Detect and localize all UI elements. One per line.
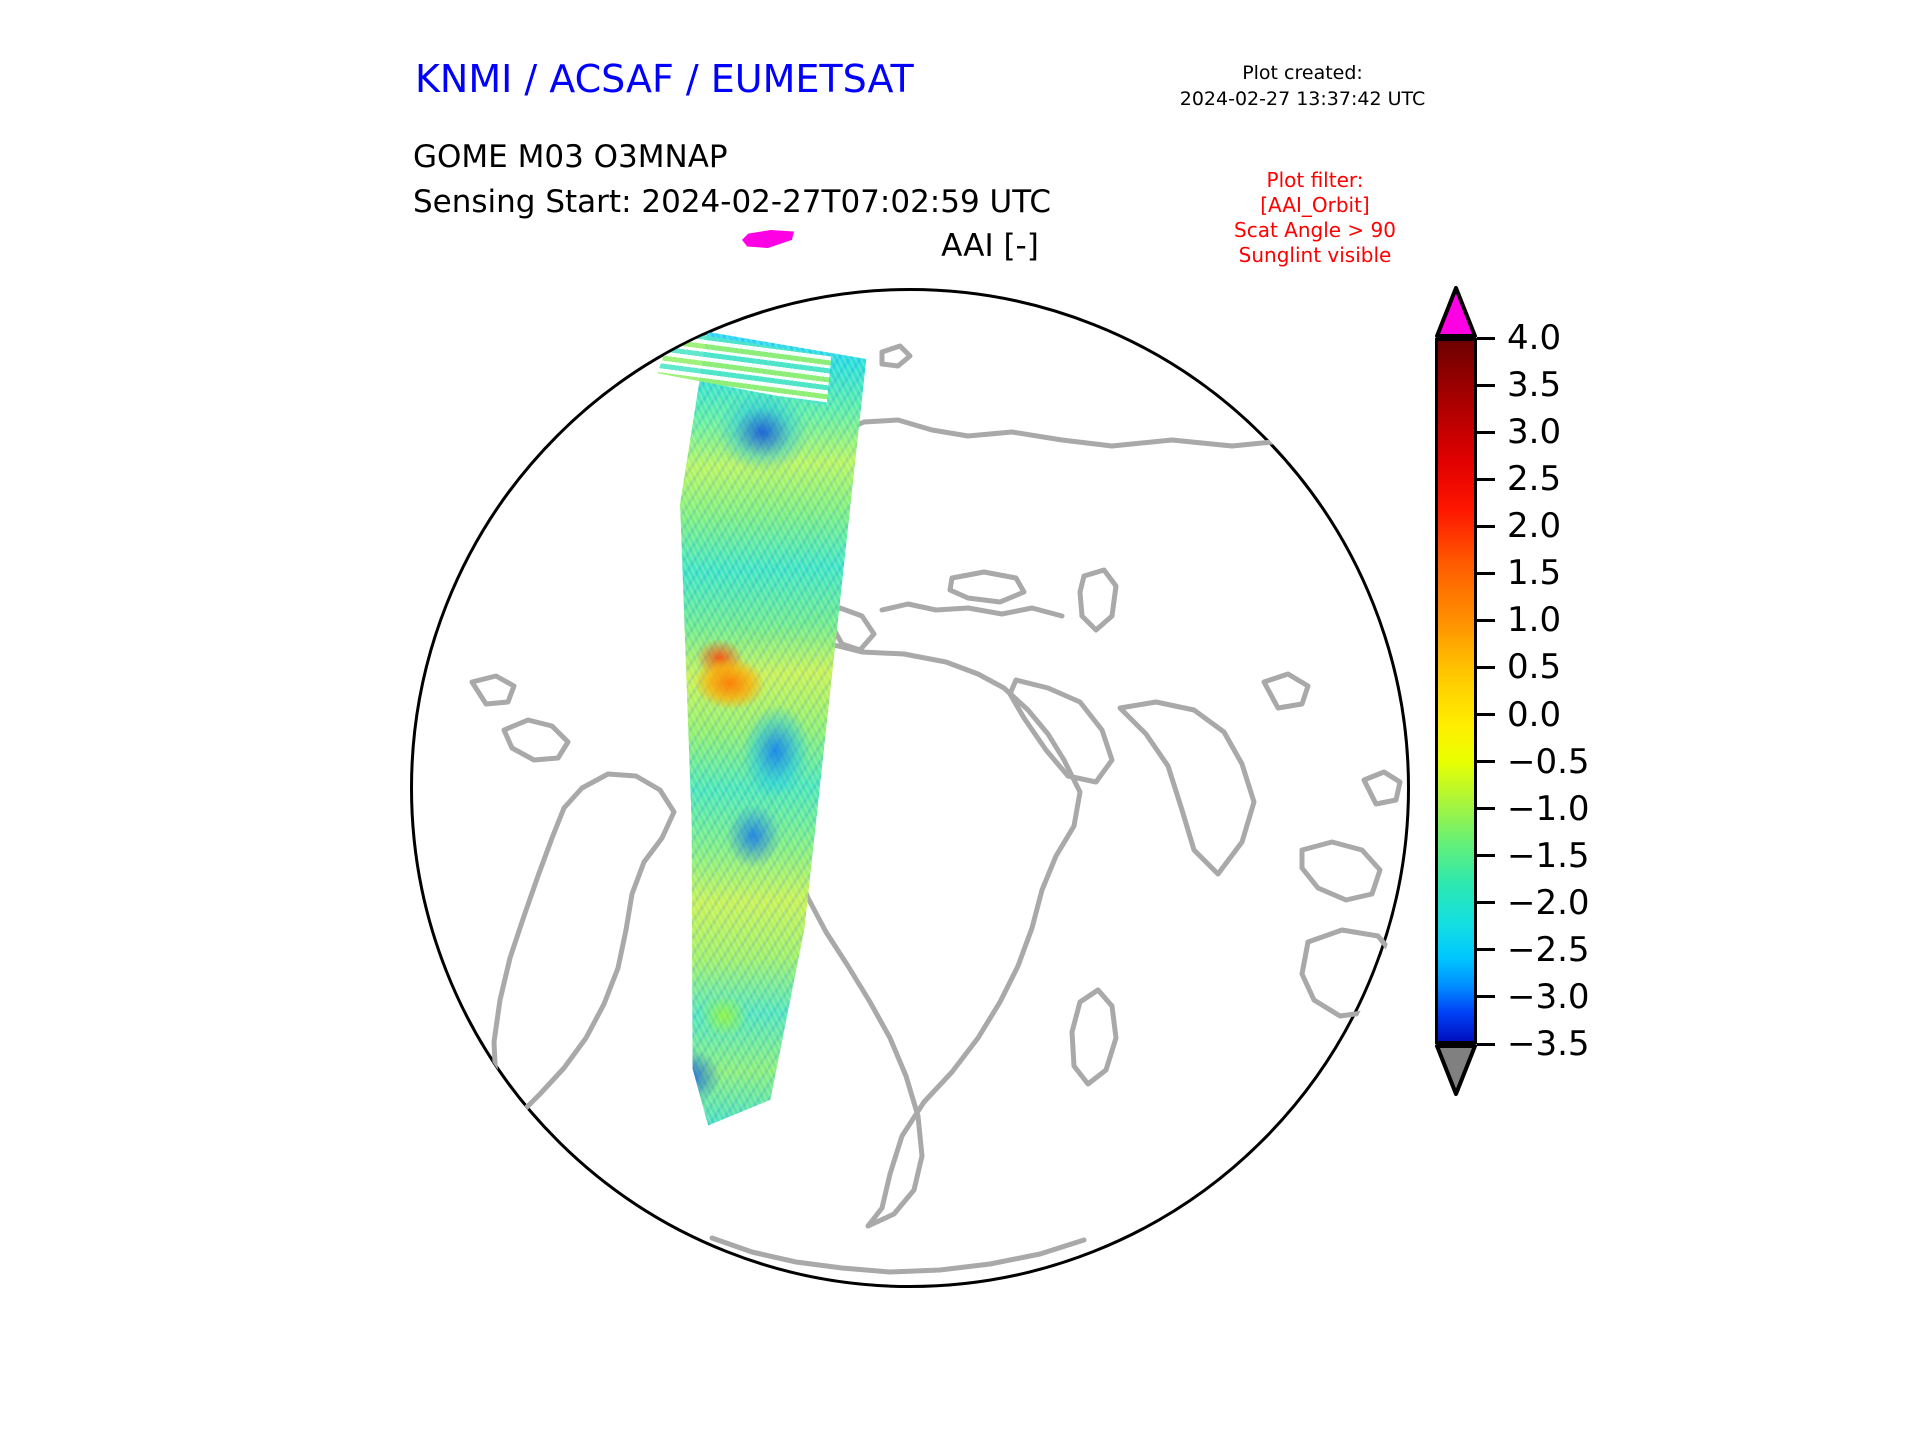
colorbar-tick-label: 0.5 — [1507, 650, 1561, 684]
plot-created-timestamp: 2024-02-27 13:37:42 UTC — [1160, 86, 1445, 112]
colorbar-tick — [1477, 337, 1495, 340]
colorbar-tick — [1477, 619, 1495, 622]
colorbar-tick-label: −3.0 — [1507, 980, 1590, 1014]
colorbar-tick-label: 0.0 — [1507, 698, 1561, 732]
colorbar-tick — [1477, 525, 1495, 528]
colorbar-tick — [1477, 431, 1495, 434]
plot-created-label: Plot created: — [1160, 60, 1445, 86]
colorbar-tick — [1477, 807, 1495, 810]
colorbar-tick-label: −1.0 — [1507, 792, 1590, 826]
colorbar-tick — [1477, 713, 1495, 716]
colorbar-over-arrow — [1435, 286, 1477, 338]
colorbar-tick-label: 3.0 — [1507, 415, 1561, 449]
product-info-block: GOME M03 O3MNAP Sensing Start: 2024-02-2… — [413, 135, 1051, 225]
colorbar-tick-label: 2.5 — [1507, 462, 1561, 496]
colorbar-tick — [1477, 666, 1495, 669]
colorbar-tick-label: −3.5 — [1507, 1027, 1590, 1061]
colorbar-tick-label: 1.5 — [1507, 556, 1561, 590]
colorbar-tick-label: −1.5 — [1507, 839, 1590, 873]
colorbar-tick-label: −0.5 — [1507, 745, 1590, 779]
aai-swath-raster — [618, 330, 868, 1133]
colorbar-tick — [1477, 384, 1495, 387]
plot-filter-title: Plot filter: — [1185, 168, 1445, 193]
satellite-swath-layer — [412, 290, 1412, 1290]
colorbar-tick — [1477, 854, 1495, 857]
plot-filter-line-0: [AAI_Orbit] — [1185, 193, 1445, 218]
plot-filter-block: Plot filter: [AAI_Orbit] Scat Angle > 90… — [1185, 168, 1445, 268]
plot-filter-line-1: Scat Angle > 90 — [1185, 218, 1445, 243]
map-plot-area — [410, 288, 1414, 1292]
organisation-title: KNMI / ACSAF / EUMETSAT — [415, 57, 914, 101]
colorbar-tick-label: 1.0 — [1507, 603, 1561, 637]
colorbar-tick — [1477, 995, 1495, 998]
colorbar-tick-label: 3.5 — [1507, 368, 1561, 402]
product-name: GOME M03 O3MNAP — [413, 135, 1051, 180]
colorbar-tick — [1477, 478, 1495, 481]
plot-created-block: Plot created: 2024-02-27 13:37:42 UTC — [1160, 60, 1445, 112]
colorbar-tick — [1477, 948, 1495, 951]
plot-filter-line-2: Sunglint visible — [1185, 243, 1445, 268]
colorbar-tick-label: −2.5 — [1507, 933, 1590, 967]
colorbar-tick — [1477, 760, 1495, 763]
colorbar-tick — [1477, 901, 1495, 904]
colorbar: 4.03.53.02.52.01.51.00.50.0−0.5−1.0−1.5−… — [1435, 286, 1855, 1096]
colorbar-tick-label: −2.0 — [1507, 886, 1590, 920]
globe-clip-region — [412, 290, 1412, 1290]
colorbar-tick — [1477, 1043, 1495, 1046]
colorbar-under-arrow — [1435, 1044, 1477, 1096]
colorbar-tick — [1477, 572, 1495, 575]
colorbar-tick-label: 2.0 — [1507, 509, 1561, 543]
variable-title: AAI [-] — [760, 228, 1220, 264]
colorbar-gradient — [1435, 338, 1477, 1044]
colorbar-tick-label: 4.0 — [1507, 321, 1561, 355]
sensing-start: Sensing Start: 2024-02-27T07:02:59 UTC — [413, 180, 1051, 225]
